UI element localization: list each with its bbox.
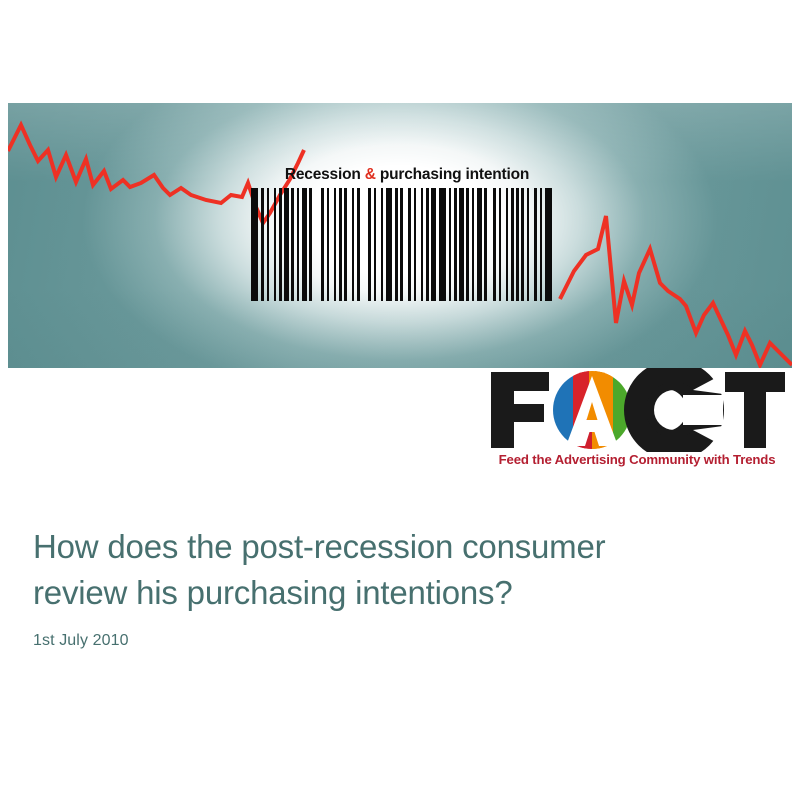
page-title-line-2: review his purchasing intentions? bbox=[33, 574, 513, 611]
barcode-bar bbox=[545, 188, 552, 301]
fact-logo-mark bbox=[487, 368, 787, 452]
barcode-bars bbox=[251, 188, 563, 301]
barcode-title-suffix: purchasing intention bbox=[376, 166, 529, 183]
page-title-line-1: How does the post-recession consumer bbox=[33, 528, 605, 565]
hero-banner-image: Recession & purchasing intention bbox=[8, 103, 792, 368]
fact-logo: Feed the Advertising Community with Tren… bbox=[487, 368, 787, 480]
barcode-gap bbox=[360, 188, 368, 301]
barcode-graphic: Recession & purchasing intention bbox=[251, 161, 563, 306]
logo-letter-t bbox=[725, 372, 785, 448]
slide-date: 1st July 2010 bbox=[33, 632, 753, 650]
barcode-bar bbox=[439, 188, 446, 301]
logo-letter-a-wheel bbox=[553, 371, 633, 449]
barcode-bar bbox=[251, 188, 258, 301]
logo-tagline: Feed the Advertising Community with Tren… bbox=[487, 452, 787, 467]
barcode-title-text: Recession & purchasing intention bbox=[259, 163, 555, 189]
page-title: How does the post-recession consumer rev… bbox=[33, 524, 753, 616]
barcode-title-ampersand: & bbox=[365, 166, 376, 183]
logo-letter-c bbox=[631, 371, 723, 449]
logo-letter-f bbox=[491, 372, 549, 448]
slide-canvas: Recession & purchasing intention bbox=[0, 0, 800, 800]
barcode-gap bbox=[312, 188, 321, 301]
trend-line-right bbox=[560, 216, 792, 365]
barcode-title-prefix: Recession bbox=[285, 166, 365, 183]
title-block: How does the post-recession consumer rev… bbox=[33, 524, 753, 650]
